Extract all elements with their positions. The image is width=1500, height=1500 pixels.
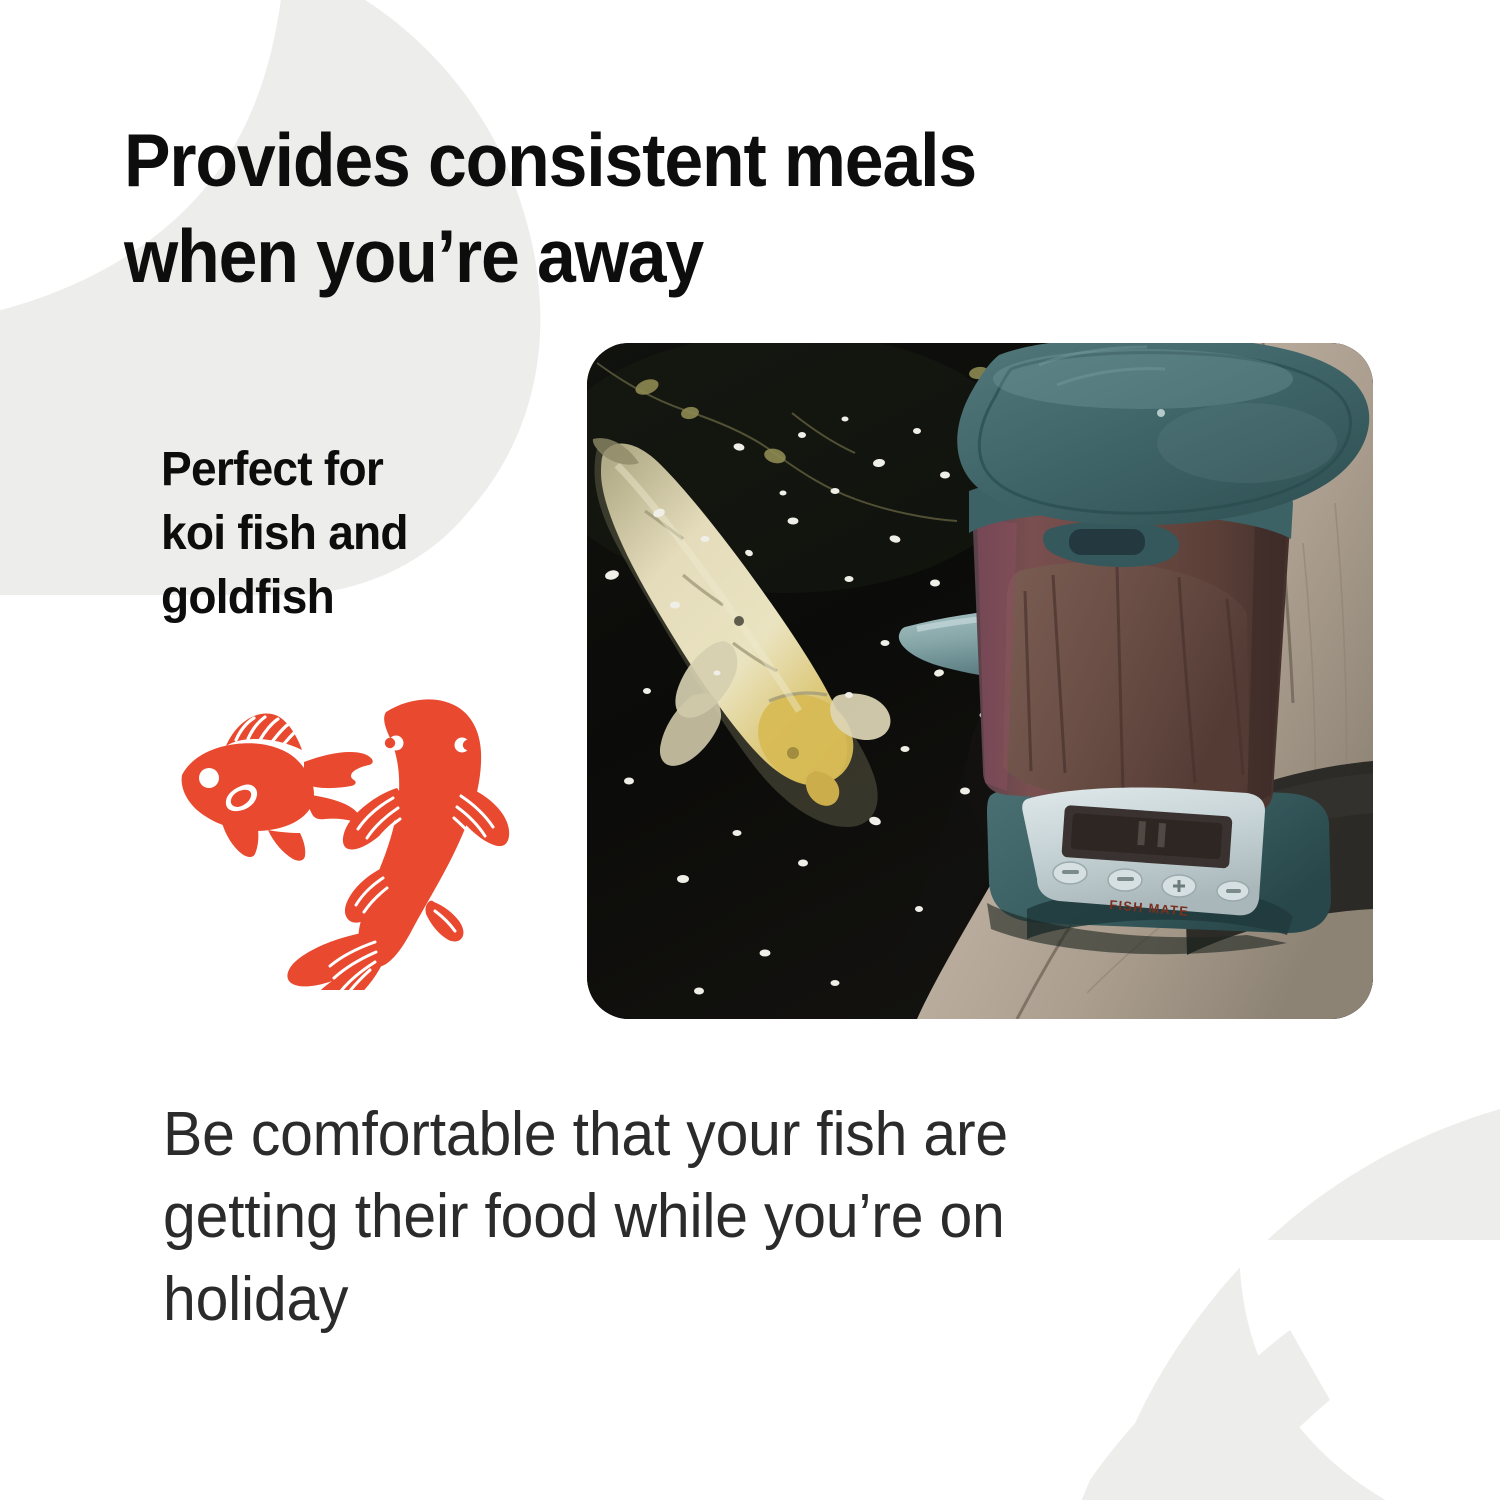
product-photo: FISH MATE [587,343,1373,1019]
koi-eye-pond [787,747,799,759]
fish-illustration-svg [164,690,524,990]
koi-spot [734,616,744,626]
headline-line-2: when you’re away [124,208,1147,304]
control-panel: FISH MATE [1022,787,1265,918]
lid-speck [1157,409,1165,417]
lid-highlight [993,349,1293,409]
panel-button-4-glyph [1226,889,1241,893]
subhead-line-2: koi fish and [161,502,545,566]
headline-line-1: Provides consistent meals [124,112,1147,208]
marketing-banner: Provides consistent meals when you’re aw… [0,0,1500,1500]
body-line-2: getting their food while you’re on [163,1176,1284,1258]
petal-shape-bottom-right-tail [1120,1330,1330,1500]
latch-grip [1069,529,1145,555]
panel-button-2-glyph [1117,877,1134,881]
feature-subheading: Perfect for koi fish and goldfish [161,438,545,629]
food-sack [1003,562,1249,801]
panel-button-1-glyph [1062,870,1079,874]
body-line-1: Be comfortable that your fish are [163,1094,1284,1176]
fish-illustration [164,690,524,990]
subhead-line-3: goldfish [161,566,545,630]
subhead-line-1: Perfect for [161,438,545,502]
koi-eye-right-pupil [463,740,473,750]
body-line-3: holiday [163,1259,1284,1341]
body-paragraph: Be comfortable that your fish are gettin… [163,1094,1284,1341]
lid-highlight-2 [1157,403,1337,483]
page-headline: Provides consistent meals when you’re aw… [124,112,1147,304]
product-photo-svg: FISH MATE [587,343,1373,1019]
koi-eye-left-pupil [385,738,395,748]
goldfish-eye [199,768,219,788]
